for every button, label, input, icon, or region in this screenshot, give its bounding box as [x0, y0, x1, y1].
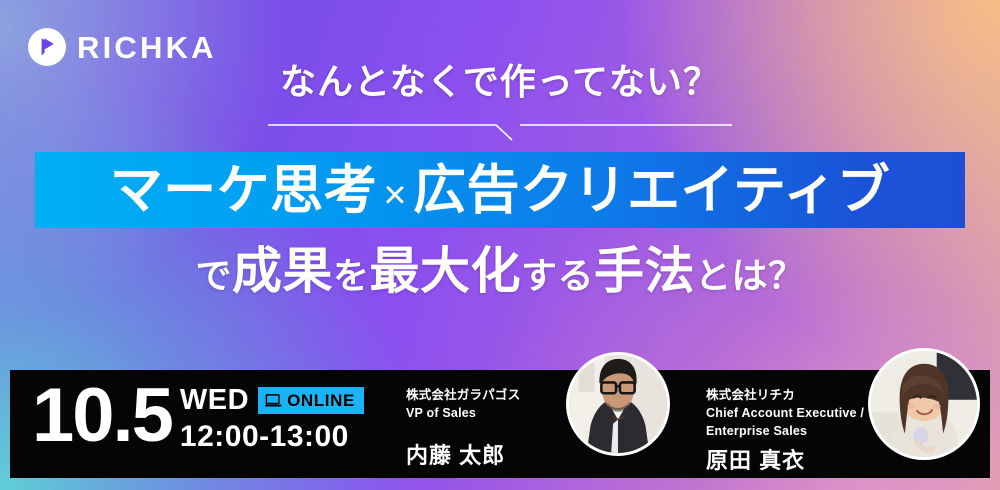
band-left-text: マーケ思考 [110, 161, 378, 220]
event-date-details: WED ONLINE 12:00-13:00 [180, 380, 364, 452]
speaker-1-title-line1: VP of Sales [406, 405, 520, 423]
event-footer: 10.5 WED ONLINE 12:00-13:00 [10, 370, 990, 478]
tail-c: を [333, 255, 370, 296]
tail-headline: で成果を最大化する手法とは？ [0, 244, 1000, 299]
event-day-of-week: WED [180, 386, 249, 415]
tail-d: 最大化 [370, 243, 522, 299]
event-time: 12:00-13:00 [180, 422, 364, 452]
event-date-block: 10.5 WED ONLINE 12:00-13:00 [32, 380, 364, 453]
speaker-2-info: 株式会社リチカ Chief Account Executive / Enterp… [706, 387, 864, 472]
laptop-icon [265, 394, 282, 407]
speaker-1-name: 内藤 太郎 [406, 445, 520, 467]
tail-g: とは？ [695, 255, 805, 296]
speaker-2-company: 株式会社リチカ [706, 387, 864, 405]
event-dow-row: WED ONLINE [180, 386, 364, 415]
tail-a: で [195, 255, 232, 296]
brand-logo[interactable]: RICHKA [28, 28, 217, 66]
online-badge-label: ONLINE [287, 392, 355, 409]
headline-band: マーケ思考×広告クリエイティブ [35, 152, 965, 228]
band-right-text: 広告クリエイティブ [413, 161, 890, 220]
speaker-2-title-line1: Chief Account Executive / [706, 405, 864, 423]
speaker-photo-male [566, 352, 670, 456]
speaker-card-1: 株式会社ガラパゴス VP of Sales 内藤 太郎 [400, 370, 680, 478]
band-multiply-symbol: × [377, 173, 413, 217]
speaker-1-info: 株式会社ガラパゴス VP of Sales 内藤 太郎 [406, 387, 520, 467]
event-date: 10.5 [32, 380, 172, 453]
webinar-banner: RICHKA なんとなくで作ってない？ マーケ思考×広告クリエイティブ で成果を… [0, 0, 1000, 490]
brand-name: RICHKA [77, 32, 217, 63]
speaker-1-company: 株式会社ガラパゴス [406, 387, 520, 405]
tail-e: する [521, 255, 594, 296]
speaker-photo-female [868, 348, 980, 460]
speaker-2-name: 原田 真衣 [706, 450, 864, 472]
headline-divider [268, 123, 732, 141]
speaker-card-2: 株式会社リチカ Chief Account Executive / Enterp… [700, 370, 990, 478]
play-flag-icon [28, 28, 66, 66]
speaker-2-title-line2: Enterprise Sales [706, 423, 864, 441]
lead-headline: なんとなくで作ってない？ [0, 62, 1000, 102]
band-text: マーケ思考×広告クリエイティブ [110, 164, 891, 217]
tail-f: 手法 [594, 243, 695, 299]
tail-b: 成果 [232, 243, 333, 299]
online-badge: ONLINE [258, 387, 364, 414]
